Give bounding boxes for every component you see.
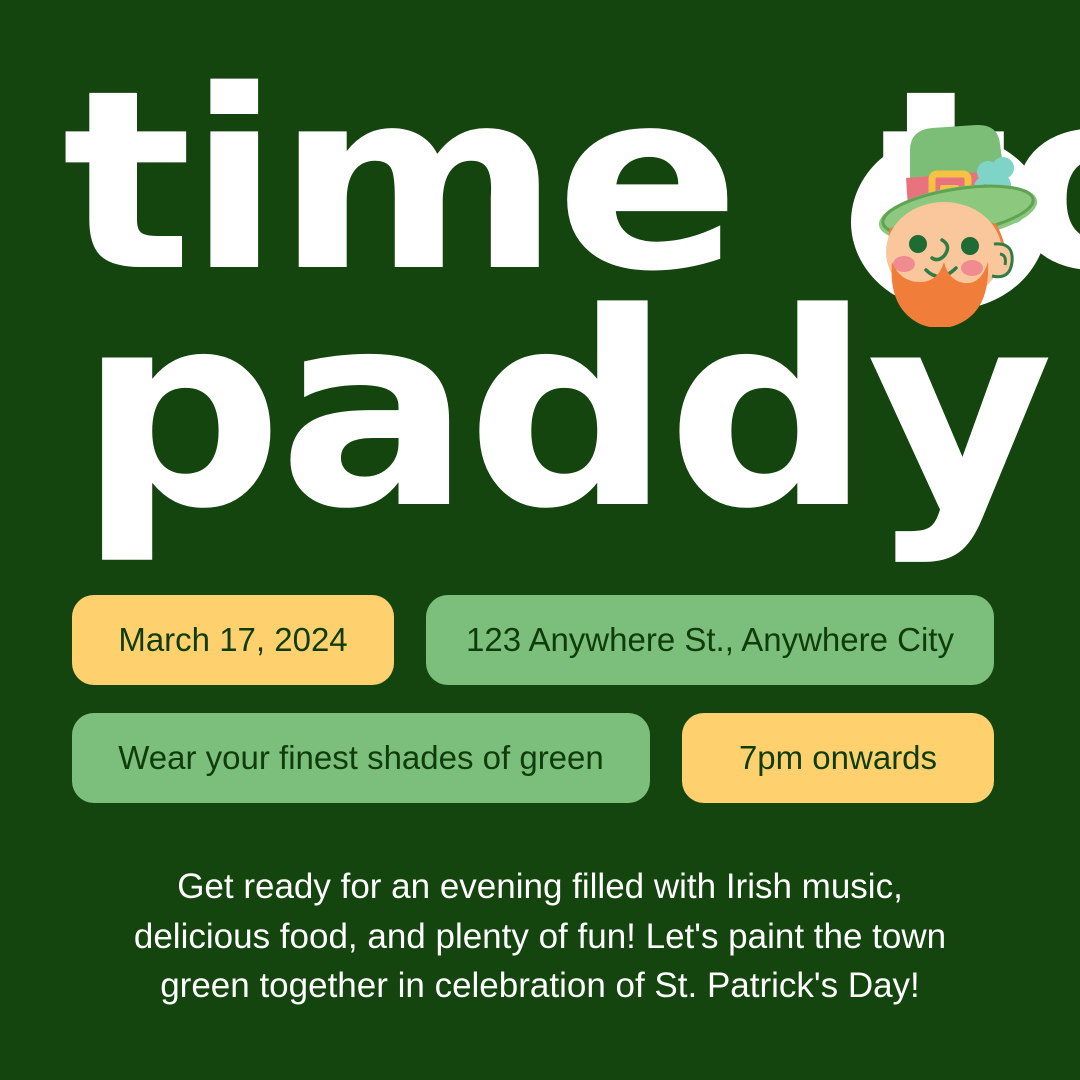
eye-left (909, 235, 927, 253)
leprechaun-icon (848, 112, 1056, 327)
body-line-1: Get ready for an evening filled with Iri… (90, 862, 990, 912)
body-line-3: green together in celebration of St. Pat… (90, 961, 990, 1011)
details-row-1: March 17, 2024 123 Anywhere St., Anywher… (72, 595, 994, 685)
body-line-2: delicious food, and plenty of fun! Let's… (90, 912, 990, 962)
cheek-right (961, 260, 983, 276)
cheek-left (893, 256, 915, 272)
ear (992, 244, 1012, 277)
details-pills: March 17, 2024 123 Anywhere St., Anywher… (72, 595, 994, 831)
pill-address[interactable]: 123 Anywhere St., Anywhere City (426, 595, 994, 685)
details-row-2: Wear your finest shades of green 7pm onw… (72, 713, 994, 803)
pill-time[interactable]: 7pm onwards (682, 713, 994, 803)
pill-date[interactable]: March 17, 2024 (72, 595, 394, 685)
body-paragraph: Get ready for an evening filled with Iri… (90, 862, 990, 1011)
eye-right (961, 237, 979, 255)
headline-line-2: paddy! (78, 300, 1080, 525)
poster-canvas: time to paddy! (0, 0, 1080, 1080)
pill-dress-code[interactable]: Wear your finest shades of green (72, 713, 650, 803)
